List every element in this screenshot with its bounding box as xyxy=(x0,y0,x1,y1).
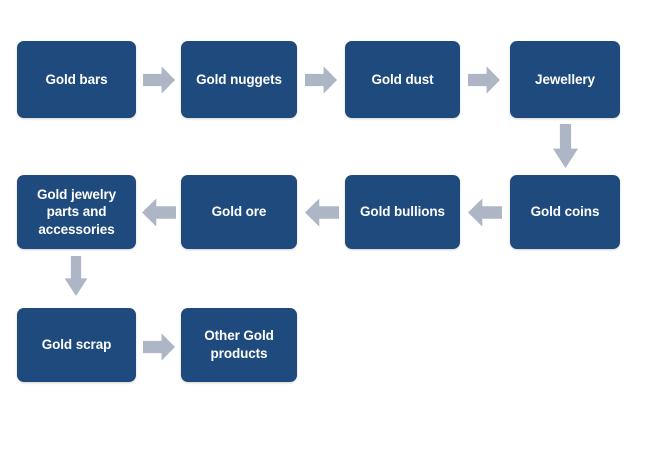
flow-node-label: Gold scrap xyxy=(42,336,112,354)
arrow-right-icon xyxy=(143,62,175,98)
arrow-right-icon xyxy=(143,329,175,365)
flow-node-label: Gold jewelry parts and accessories xyxy=(23,186,130,239)
flow-node-gold-bullions[interactable]: Gold bullions xyxy=(345,175,460,249)
arrow-right-icon xyxy=(468,62,500,98)
arrow-left-icon xyxy=(142,194,176,231)
flow-node-gold-bars[interactable]: Gold bars xyxy=(17,41,136,118)
flow-node-jewellery[interactable]: Jewellery xyxy=(510,41,620,118)
flow-node-label: Gold nuggets xyxy=(196,71,282,89)
flow-node-gold-scrap[interactable]: Gold scrap xyxy=(17,308,136,382)
flow-node-gold-dust[interactable]: Gold dust xyxy=(345,41,460,118)
flow-node-label: Gold coins xyxy=(531,203,600,221)
flowchart-canvas: Gold barsGold nuggetsGold dustJewelleryG… xyxy=(0,0,650,450)
flow-node-label: Jewellery xyxy=(535,71,595,89)
flow-node-label: Gold bullions xyxy=(360,203,445,221)
arrow-down-icon xyxy=(549,124,582,168)
flow-node-label: Other Gold products xyxy=(187,327,291,362)
flow-node-label: Gold ore xyxy=(212,203,267,221)
arrow-right-icon xyxy=(305,62,337,98)
flow-node-other-gold-products[interactable]: Other Gold products xyxy=(181,308,297,382)
flow-node-label: Gold dust xyxy=(371,71,433,89)
flow-node-gold-coins[interactable]: Gold coins xyxy=(510,175,620,249)
flow-node-gold-nuggets[interactable]: Gold nuggets xyxy=(181,41,297,118)
flow-node-gold-jewelry-parts[interactable]: Gold jewelry parts and accessories xyxy=(17,175,136,249)
arrow-left-icon xyxy=(305,194,339,231)
arrow-down-icon xyxy=(61,256,91,296)
arrow-left-icon xyxy=(468,194,502,231)
flow-node-gold-ore[interactable]: Gold ore xyxy=(181,175,297,249)
flow-node-label: Gold bars xyxy=(45,71,107,89)
